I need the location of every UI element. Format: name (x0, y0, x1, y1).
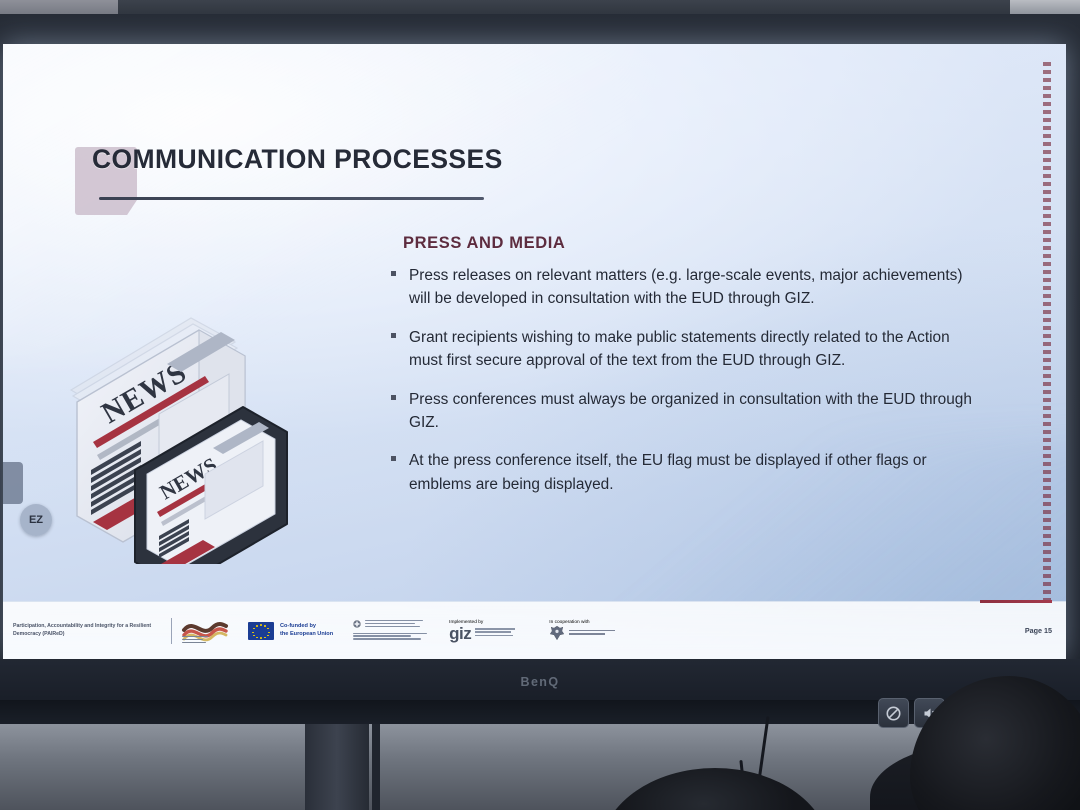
partner-logo (353, 620, 427, 641)
page-accent-bar (980, 600, 1052, 603)
giz-subtitle-lines (475, 628, 515, 637)
news-illustration: NEWS (63, 274, 303, 564)
bmz-logo (180, 616, 230, 646)
bullet-marker-icon (391, 388, 409, 435)
bmz-logo-caption (182, 636, 208, 645)
page-number: Page 15 (1025, 626, 1052, 635)
ghana-coat-of-arms-icon (549, 625, 565, 641)
no-entry-icon (885, 705, 902, 722)
list-item: At the press conference itself, the EU f… (391, 449, 977, 496)
screen-side-tab[interactable] (3, 462, 23, 504)
slide-footer: Participation, Accountability and Integr… (3, 601, 1066, 659)
list-item: Press releases on relevant matters (e.g.… (391, 264, 977, 311)
project-name-label: Participation, Accountability and Integr… (13, 623, 163, 638)
partner-crest-icon (353, 620, 361, 628)
giz-logo: Implemented by giz (449, 620, 515, 642)
eu-flag-icon (248, 622, 274, 640)
bullet-text: Press conferences must always be organiz… (409, 388, 977, 435)
page-title: COMMUNICATION PROCESSES (92, 144, 503, 175)
decorative-dashed-strip (1043, 62, 1051, 602)
ministry-line-1 (569, 630, 615, 632)
page-number-area: Page 15 (1025, 626, 1052, 635)
bullet-text: Press releases on relevant matters (e.g.… (409, 264, 977, 311)
blank-screen-button[interactable] (878, 698, 909, 728)
eu-caption-line-1: Co-funded by (280, 623, 333, 631)
display-stand-column (305, 724, 369, 810)
bullet-text: Grant recipients wishing to make public … (409, 326, 977, 373)
bullet-list: Press releases on relevant matters (e.g.… (391, 264, 977, 511)
bullet-marker-icon (391, 326, 409, 373)
eu-logo: Co-funded by the European Union (248, 622, 333, 640)
bullet-marker-icon (391, 264, 409, 311)
classroom-photo: COMMUNICATION PROCESSES PRESS AND MEDIA … (0, 0, 1080, 810)
footer-divider (171, 618, 172, 644)
benq-brand-logo: BenQ (521, 675, 560, 689)
display-chassis: COMMUNICATION PROCESSES PRESS AND MEDIA … (0, 14, 1080, 694)
giz-wordmark: giz (449, 625, 471, 642)
section-heading: PRESS AND MEDIA (403, 234, 565, 253)
display-stand-column-secondary (372, 724, 380, 810)
title-underline (99, 197, 484, 200)
eu-caption-line-2: the European Union (280, 631, 333, 639)
bullet-text: At the press conference itself, the EU f… (409, 449, 977, 496)
ministry-line-2 (569, 633, 605, 635)
slide-title-block: COMMUNICATION PROCESSES (75, 144, 503, 175)
display-screen[interactable]: COMMUNICATION PROCESSES PRESS AND MEDIA … (3, 44, 1066, 659)
presentation-slide: COMMUNICATION PROCESSES PRESS AND MEDIA … (3, 44, 1066, 659)
bullet-marker-icon (391, 449, 409, 496)
ministry-of-finance-logo: In cooperation with (549, 620, 615, 641)
ez-button[interactable]: EZ (20, 504, 52, 536)
list-item: Grant recipients wishing to make public … (391, 326, 977, 373)
list-item: Press conferences must always be organiz… (391, 388, 977, 435)
